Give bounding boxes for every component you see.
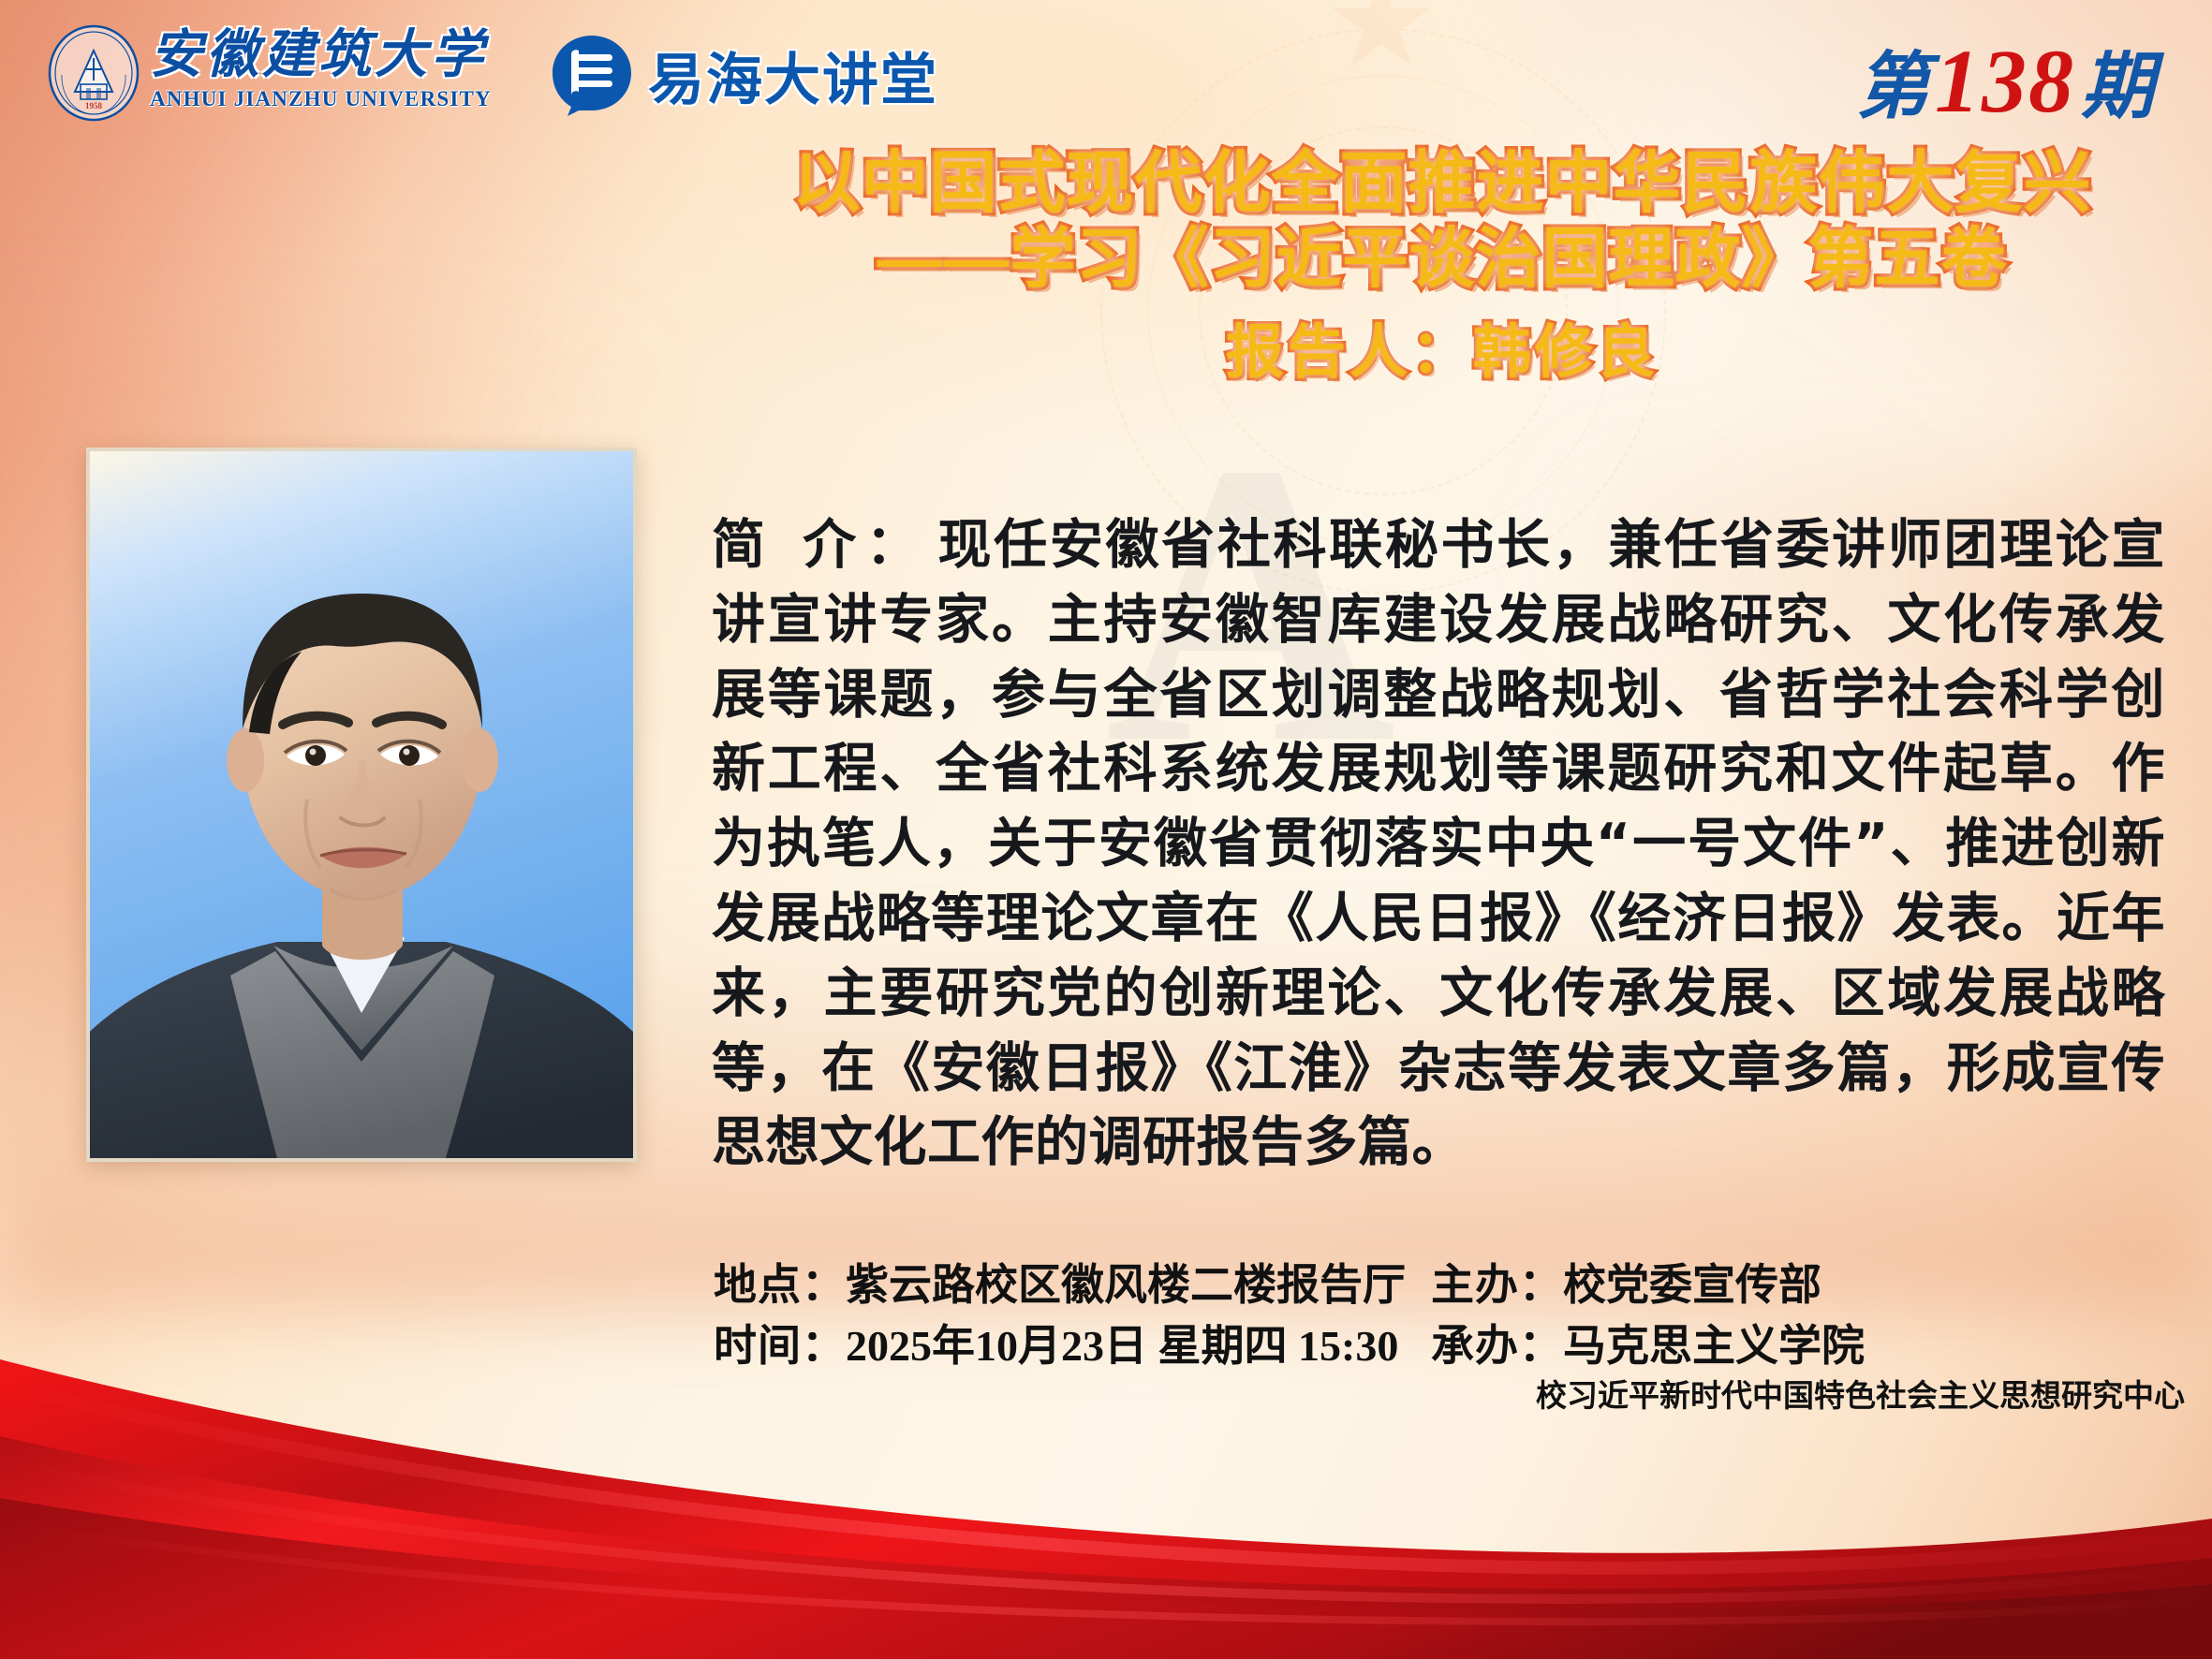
organizer-value: 马克思主义学院 (1563, 1322, 1865, 1370)
poster-footer: 地点：紫云路校区徽风楼二楼报告厅 时间：2025年10月23日 星期四 15:3… (0, 1255, 2212, 1564)
poster-canvas: A 1958 安徽建筑大学 ANHUI JIANZHU UNIVERSITY (0, 0, 2212, 1659)
time-row: 时间：2025年10月23日 星期四 15:30 (714, 1315, 1406, 1376)
venue-row: 地点：紫云路校区徽风楼二楼报告厅 (714, 1255, 1406, 1315)
book-speech-bubble-icon (551, 34, 633, 116)
biography-text: 现任安徽省社科联秘书长，兼任省委讲师团理论宣讲宣讲专家。主持安徽智库建设发展战略… (712, 514, 2165, 1173)
footer-left-column: 地点：紫云路校区徽风楼二楼报告厅 时间：2025年10月23日 星期四 15:3… (714, 1255, 1406, 1377)
biography-label: 简 介： (712, 514, 929, 576)
venue-label: 地点： (714, 1261, 846, 1309)
organizer-row: 承办：马克思主义学院 (1431, 1315, 2185, 1376)
poster-header: 1958 安徽建筑大学 ANHUI JIANZHU UNIVERSITY 易海大… (0, 0, 2212, 140)
issue-number: 138 (1929, 29, 2081, 133)
speaker-line: 报告人：韩修良 (712, 304, 2173, 389)
title-block: 以中国式现代化全面推进中华民族伟大复兴 ——学习《习近平谈治国理政》第五卷 报告… (712, 145, 2173, 389)
svg-text:1958: 1958 (85, 101, 103, 110)
university-name-cn: 安徽建筑大学 (150, 28, 492, 83)
issue-suffix: 期 (2081, 28, 2154, 133)
speaker-portrait (86, 448, 637, 1162)
time-value: 2025年10月23日 星期四 15:30 (846, 1322, 1398, 1370)
host-row: 主办：校党委宣传部 (1431, 1255, 2185, 1315)
title-line-1: 以中国式现代化全面推进中华民族伟大复兴 (712, 145, 2173, 222)
footer-right-column: 主办：校党委宣传部 承办：马克思主义学院 校习近平新时代中国特色社会主义思想研究… (1431, 1255, 2185, 1417)
university-name-block: 安徽建筑大学 ANHUI JIANZHU UNIVERSITY (150, 28, 492, 111)
organizer-label: 承办： (1431, 1322, 1563, 1370)
issue-badge: 第 138 期 (1856, 28, 2154, 133)
time-label: 时间： (714, 1322, 846, 1370)
host-value: 校党委宣传部 (1563, 1261, 1821, 1309)
lecture-series-brand: 易海大讲堂 (551, 34, 938, 116)
lecture-series-name: 易海大讲堂 (648, 35, 938, 116)
organizer-value-secondary: 校习近平新时代中国特色社会主义思想研究中心 (1536, 1377, 2185, 1417)
venue-value: 紫云路校区徽风楼二楼报告厅 (846, 1261, 1406, 1309)
university-seal-icon: 1958 (45, 24, 142, 122)
university-name-en: ANHUI JIANZHU UNIVERSITY (150, 87, 492, 111)
title-line-2: ——学习《习近平谈治国理政》第五卷 (712, 222, 2173, 297)
issue-prefix: 第 (1856, 28, 1929, 133)
speaker-biography: 简 介：现任安徽省社科联秘书长，兼任省委讲师团理论宣讲宣讲专家。主持安徽智库建设… (712, 508, 2165, 1181)
host-label: 主办： (1431, 1261, 1563, 1309)
